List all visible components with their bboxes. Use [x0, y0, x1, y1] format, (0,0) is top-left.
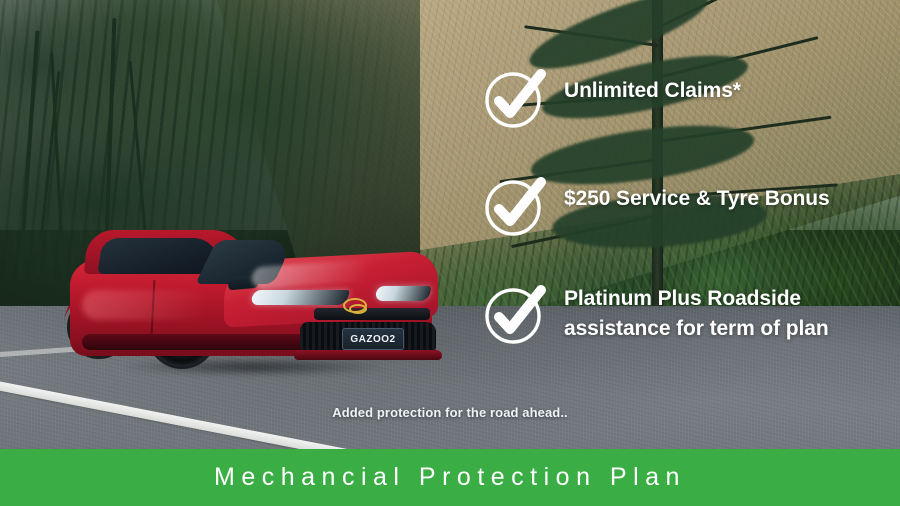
- benefit-item-roadside-assistance: Platinum Plus Roadside assistance for te…: [484, 280, 884, 346]
- check-circle-icon: [484, 284, 546, 346]
- red-sports-hatchback: GAZOO2: [56, 224, 446, 384]
- car-side-skirt: [82, 334, 312, 350]
- headlight-left: [250, 290, 350, 305]
- body-highlight: [82, 290, 262, 320]
- front-bumper-lip: [294, 350, 442, 360]
- benefit-label: Platinum Plus Roadside assistance for te…: [564, 280, 884, 344]
- benefit-item-unlimited-claims: Unlimited Claims*: [484, 64, 884, 130]
- check-circle-icon: [484, 68, 546, 130]
- plan-title-banner: Mechancial Protection Plan: [0, 449, 900, 506]
- promo-caption: Added protection for the road ahead..: [0, 405, 900, 420]
- plan-title: Mechancial Protection Plan: [214, 463, 686, 492]
- toyota-emblem-icon: [343, 298, 367, 313]
- upper-grille: [314, 308, 430, 320]
- benefit-item-service-tyre-bonus: $250 Service & Tyre Bonus: [484, 172, 884, 238]
- benefit-label: $250 Service & Tyre Bonus: [564, 172, 830, 214]
- check-circle-icon: [484, 176, 546, 238]
- mechanical-protection-plan-promo: GAZOO2 Unlimited Claims* $250 Serv: [0, 0, 900, 506]
- headlight-right: [375, 286, 432, 301]
- license-plate-text: GAZOO2: [350, 334, 395, 345]
- benefits-list: Unlimited Claims* $250 Service & Tyre Bo…: [484, 64, 884, 346]
- benefit-label: Unlimited Claims*: [564, 64, 741, 106]
- license-plate: GAZOO2: [342, 328, 404, 350]
